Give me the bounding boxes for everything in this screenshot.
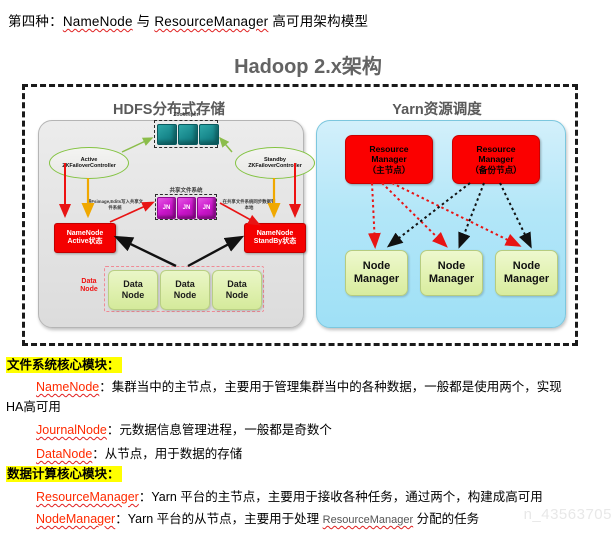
notes-item-nodemanager-term: NodeManager	[36, 512, 115, 526]
datanode-line1: Data	[123, 279, 143, 290]
nm-line2: Manager	[429, 273, 474, 286]
namenode-standby-line2: StandBy状态	[254, 238, 296, 246]
diagram-title: Hadoop 2.x架构	[0, 50, 616, 79]
namenode-active-line1: NameNode	[67, 230, 104, 238]
page-title-mid: 与	[133, 14, 155, 29]
rm-standby-line2: Manager	[478, 154, 513, 164]
zookeeper-node-icon	[199, 124, 219, 145]
yarn-section-label: Yarn资源调度	[312, 98, 562, 119]
notes-item-nodemanager: NodeManager：Yarn 平台的从节点，主要用于处理 ResourceM…	[6, 513, 479, 526]
resourcemanager-primary: Resource Manager （主节点）	[345, 135, 433, 184]
notes-item-journalnode: JournalNode：元数据信息管理进程，一般都是奇数个	[6, 424, 332, 437]
rm-primary-line2: Manager	[371, 154, 406, 164]
notes-item-resourcemanager-desc: ：Yarn 平台的主节点，主要用于接收各种任务，通过两个，构建成高可用	[139, 490, 543, 504]
nm-line2: Manager	[354, 273, 399, 286]
zookeeper-node-icon	[157, 124, 177, 145]
notes-item-namenode: NameNode：集群当中的主节点，主要用于管理集群当中的各种数据，一般都是使用…	[6, 381, 562, 394]
notes-section1-title-text: 文件系统核心模块：	[6, 357, 122, 373]
datanode-line2: Node	[226, 290, 249, 301]
notes-item-namenode-term: NameNode	[36, 380, 99, 394]
rm-primary-line3: （主节点）	[368, 165, 411, 175]
notes-section1-title: 文件系统核心模块：	[6, 359, 122, 372]
notes-item-datanode-term: DataNode	[36, 447, 92, 461]
zookeeper-node-icon	[178, 124, 198, 145]
datanode-line2: Node	[122, 290, 145, 301]
datanode-line1: Data	[227, 279, 247, 290]
resourcemanager-standby: Resource Manager （备份节点）	[452, 135, 540, 184]
nodemanager-box: Node Manager	[420, 250, 483, 296]
zkfc-standby-line2: ZKFailoverController	[248, 163, 302, 169]
page-title-prefix: 第四种：	[8, 14, 63, 29]
namenode-active: NameNode Active状态	[54, 223, 116, 253]
journalnode-icon: JN	[177, 197, 196, 219]
datanode-box: Data Node	[212, 270, 262, 310]
datanode-box: Data Node	[160, 270, 210, 310]
nodemanager-box: Node Manager	[345, 250, 408, 296]
notes-item-datanode: DataNode：从节点，用于数据的存储	[6, 448, 242, 461]
annotation-sync-from-shared-fs: 在共享文件系统同步数据到本地	[222, 199, 276, 210]
notes-item-namenode-desc: ：集群当中的主节点，主要用于管理集群当中的各种数据，一般都是使用两个，实现	[99, 380, 562, 394]
nm-line2: Manager	[504, 273, 549, 286]
zkfc-active: Active ZKFailoverController	[49, 147, 129, 179]
notes-item-resourcemanager-term: ResourceManager	[36, 490, 139, 504]
notes-item-nodemanager-desc-a: ：Yarn 平台的从节点，主要用于处理	[115, 512, 322, 526]
zkfc-standby: Standby ZKFailoverController	[235, 147, 315, 179]
notes-item-nodemanager-ref: ResourceManager	[323, 514, 414, 526]
rm-primary-line1: Resource	[369, 144, 408, 154]
nm-line1: Node	[363, 260, 391, 273]
notes-item-namenode-cont: HA高可用	[6, 401, 61, 414]
nodemanager-box: Node Manager	[495, 250, 558, 296]
notes-item-journalnode-desc: ：元数据信息管理进程，一般都是奇数个	[107, 423, 332, 437]
datanode-box: Data Node	[108, 270, 158, 310]
journalnode-icon: JN	[197, 197, 216, 219]
datanode-group-label: Data Node	[76, 278, 102, 295]
notes-section2-title-text: 数据计算核心模块：	[6, 466, 122, 482]
nm-line1: Node	[513, 260, 541, 273]
zookeeper-caption: Zookeeper	[150, 112, 222, 118]
datanode-line2: Node	[174, 290, 197, 301]
notes-item-journalnode-term: JournalNode	[36, 423, 107, 437]
shared-fs-caption: 共享文件系统	[150, 186, 222, 194]
annotation-write-to-shared-fs: 将Fsimage,Edits写入共享文件系统	[86, 199, 144, 210]
notes-item-resourcemanager: ResourceManager：Yarn 平台的主节点，主要用于接收各种任务，通…	[6, 491, 543, 504]
notes-item-nodemanager-desc-c: 分配的任务	[413, 512, 479, 526]
nm-line1: Node	[438, 260, 466, 273]
rm-standby-line1: Resource	[476, 144, 515, 154]
namenode-standby-line1: NameNode	[257, 230, 294, 238]
rm-standby-line3: （备份节点）	[470, 165, 522, 175]
zkfc-active-line2: ZKFailoverController	[62, 163, 116, 169]
journalnode-icon: JN	[157, 197, 176, 219]
page-title-suffix: 高可用架构模型	[268, 14, 368, 29]
page-title-term-namenode: NameNode	[63, 14, 133, 29]
watermark: n_43563705	[524, 506, 612, 523]
notes-section2-title: 数据计算核心模块：	[6, 468, 122, 481]
namenode-standby: NameNode StandBy状态	[244, 223, 306, 253]
page-title: 第四种：NameNode 与 ResourceManager 高可用架构模型	[8, 10, 368, 30]
page-root: 第四种：NameNode 与 ResourceManager 高可用架构模型 H…	[0, 0, 616, 534]
page-title-term-resourcemanager: ResourceManager	[154, 14, 268, 29]
datanode-line1: Data	[175, 279, 195, 290]
notes-item-datanode-desc: ：从节点，用于数据的存储	[92, 447, 242, 461]
namenode-active-line2: Active状态	[67, 238, 102, 246]
